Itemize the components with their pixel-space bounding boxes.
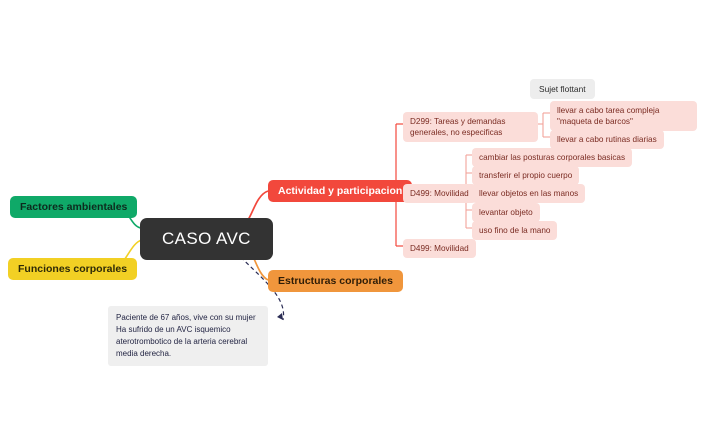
node-label: llevar a cabo tarea compleja "maqueta de… (557, 106, 659, 126)
branch-estructuras-corporales[interactable]: Estructuras corporales (268, 270, 403, 292)
central-node[interactable]: CASO AVC (140, 218, 273, 260)
node-movilidad-child-4[interactable]: levantar objeto (472, 203, 540, 222)
node-label: cambiar las posturas corporales basicas (479, 153, 625, 162)
node-movilidad-child-5[interactable]: uso fino de la mano (472, 221, 557, 240)
node-movilidad-child-3[interactable]: llevar objetos en las manos (472, 184, 585, 203)
node-label: llevar a cabo rutinas diarias (557, 135, 657, 144)
node-label: D299: Tareas y demandas generales, no es… (410, 117, 505, 137)
node-label: llevar objetos en las manos (479, 189, 578, 198)
mindmap-canvas[interactable]: CASO AVC Factores ambientales Funciones … (0, 0, 702, 435)
node-label: D499: Movilidad (410, 189, 469, 198)
case-note-line-2: Ha sufrido de un AVC isquemico aterotrom… (116, 324, 260, 360)
case-note-line-1: Paciente de 67 años, vive con su mujer (116, 312, 260, 324)
branch-actividad-participacion[interactable]: Actividad y participacion (268, 180, 412, 202)
node-label: D499: Movilidad (410, 244, 469, 253)
node-d499-movilidad-1[interactable]: D499: Movilidad (403, 184, 476, 203)
floating-topic[interactable]: Sujet flottant (530, 79, 595, 99)
case-note[interactable]: Paciente de 67 años, vive con su mujer H… (108, 306, 268, 366)
node-d299[interactable]: D299: Tareas y demandas generales, no es… (403, 112, 538, 142)
branch-funciones-corporales[interactable]: Funciones corporales (8, 258, 137, 280)
branch-label: Funciones corporales (18, 263, 127, 275)
node-label: uso fino de la mano (479, 226, 550, 235)
branch-label: Estructuras corporales (278, 275, 393, 287)
branch-label: Factores ambientales (20, 201, 127, 213)
floating-topic-label: Sujet flottant (539, 84, 586, 94)
node-movilidad-child-1[interactable]: cambiar las posturas corporales basicas (472, 148, 632, 167)
node-label: transferir el propio cuerpo (479, 171, 572, 180)
node-label: levantar objeto (479, 208, 533, 217)
node-d299-child-1[interactable]: llevar a cabo tarea compleja "maqueta de… (550, 101, 697, 131)
branch-factores-ambientales[interactable]: Factores ambientales (10, 196, 137, 218)
central-node-label: CASO AVC (162, 229, 251, 248)
node-d299-child-2[interactable]: llevar a cabo rutinas diarias (550, 130, 664, 149)
branch-label: Actividad y participacion (278, 185, 402, 197)
node-movilidad-child-2[interactable]: transferir el propio cuerpo (472, 166, 579, 185)
node-d499-movilidad-2[interactable]: D499: Movilidad (403, 239, 476, 258)
